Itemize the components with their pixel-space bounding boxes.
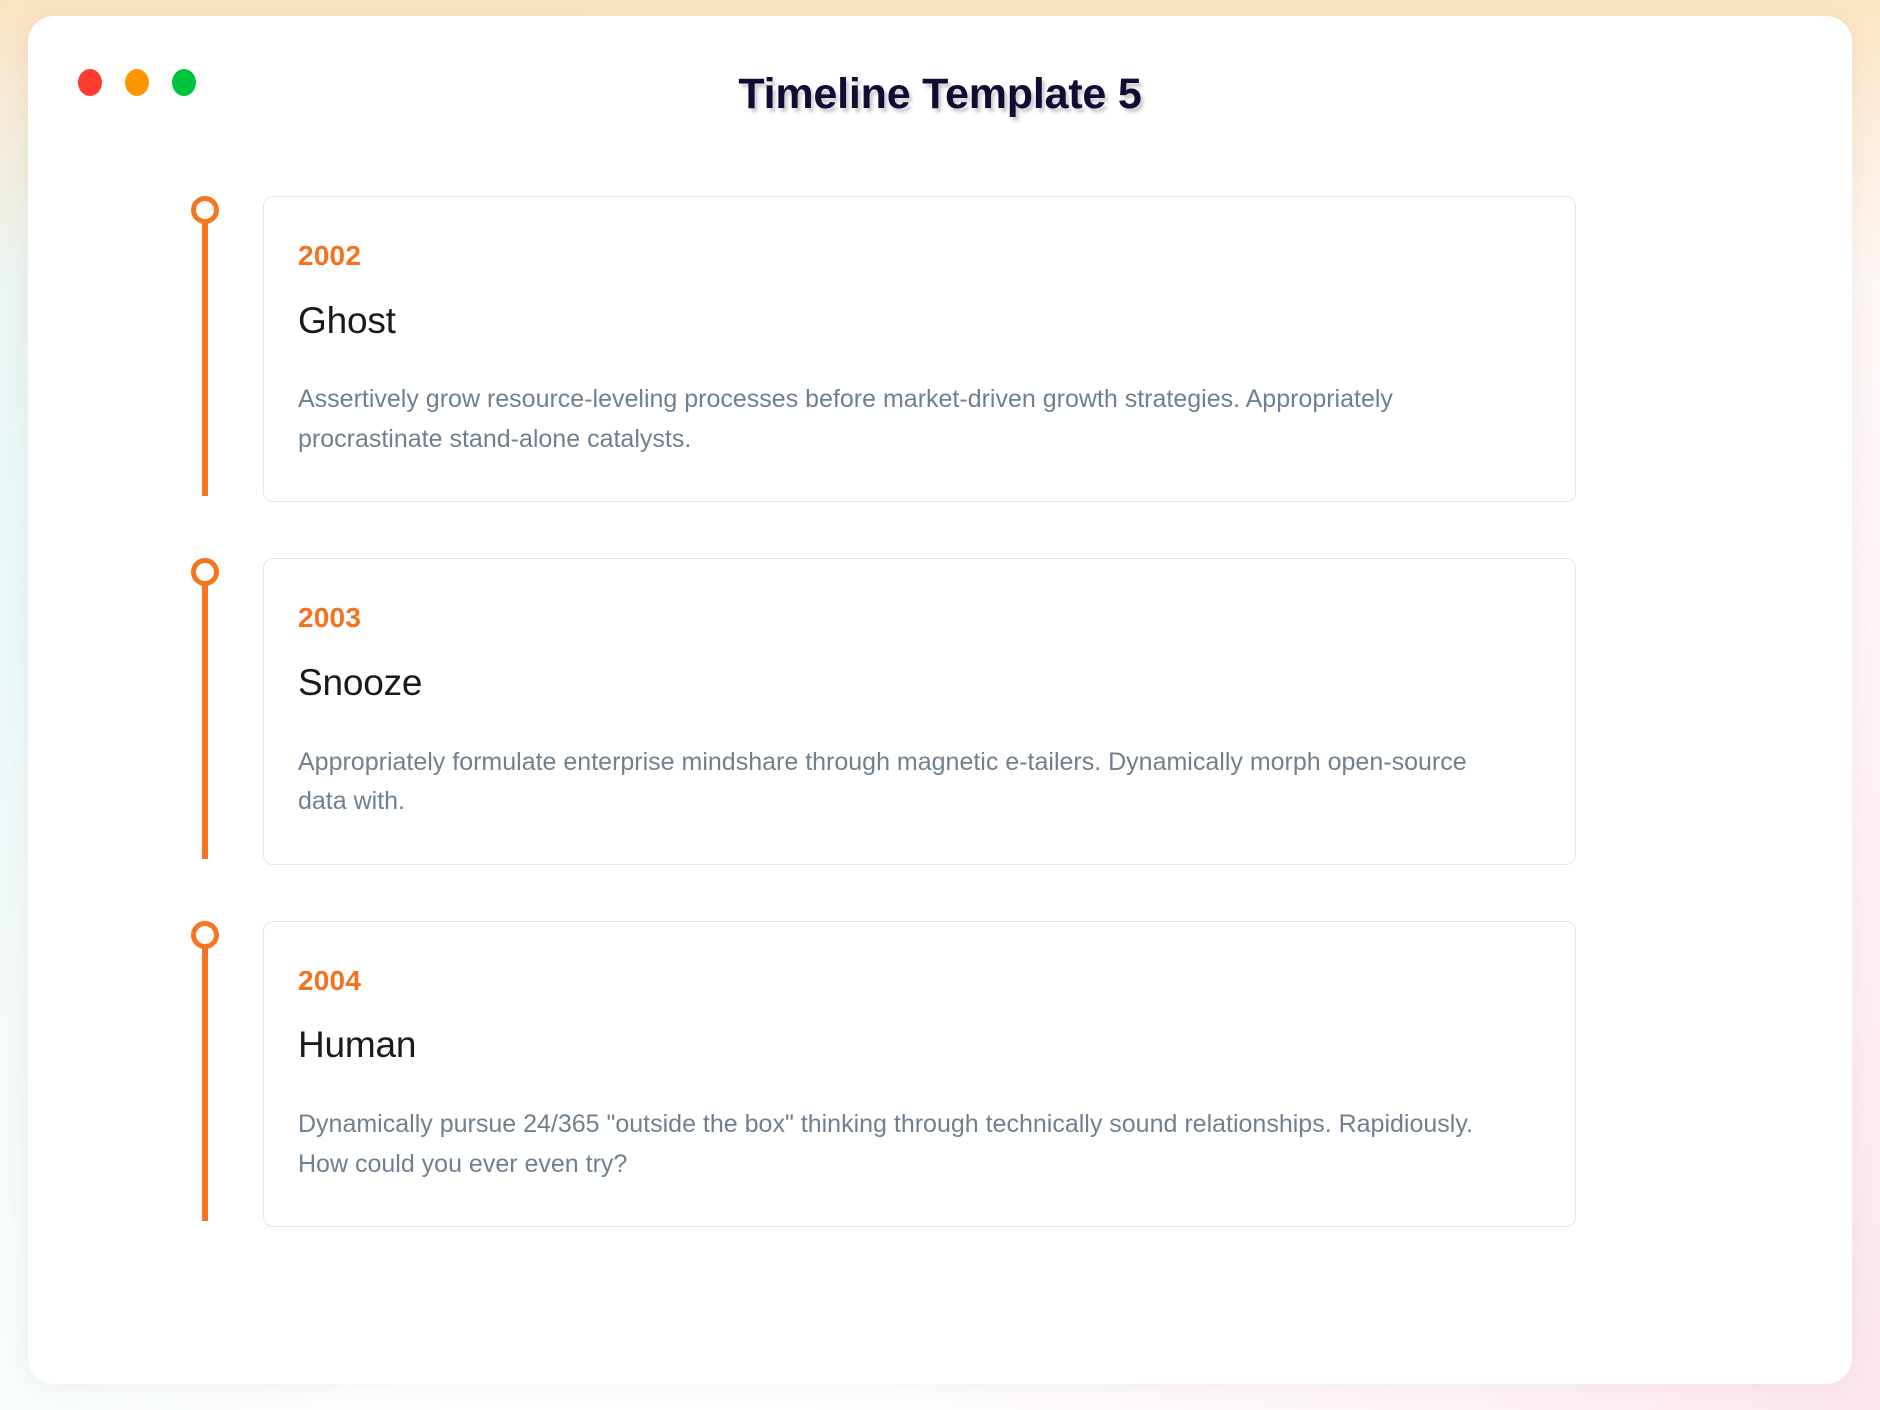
timeline-card-title: Ghost xyxy=(298,300,1541,343)
timeline-card-year: 2002 xyxy=(298,241,1541,272)
timeline-entry: 2004 Human Dynamically pursue 24/365 "ou… xyxy=(28,921,1852,1227)
timeline-card-description: Appropriately formulate enterprise minds… xyxy=(298,743,1508,822)
timeline-connector-line xyxy=(202,220,208,496)
timeline-entry: 2002 Ghost Assertively grow resource-lev… xyxy=(28,196,1852,502)
timeline-node-circle-icon xyxy=(191,196,219,224)
app-window: Timeline Template 5 2002 Ghost Assertive… xyxy=(28,16,1852,1384)
timeline-card-year: 2003 xyxy=(298,603,1541,634)
timeline-card[interactable]: 2002 Ghost Assertively grow resource-lev… xyxy=(263,196,1576,502)
timeline-card-year: 2004 xyxy=(298,966,1541,997)
timeline-marker xyxy=(183,558,227,864)
timeline-marker xyxy=(183,921,227,1227)
timeline-entry: 2003 Snooze Appropriately formulate ente… xyxy=(28,558,1852,864)
timeline-card-title: Snooze xyxy=(298,662,1541,705)
page-title: Timeline Template 5 xyxy=(28,70,1852,119)
timeline-marker xyxy=(183,196,227,502)
window-titlebar: Timeline Template 5 xyxy=(28,16,1852,134)
timeline-card[interactable]: 2004 Human Dynamically pursue 24/365 "ou… xyxy=(263,921,1576,1227)
timeline-list: 2002 Ghost Assertively grow resource-lev… xyxy=(28,134,1852,1227)
timeline-card[interactable]: 2003 Snooze Appropriately formulate ente… xyxy=(263,558,1576,864)
timeline-card-description: Dynamically pursue 24/365 "outside the b… xyxy=(298,1105,1508,1184)
timeline-card-description: Assertively grow resource-leveling proce… xyxy=(298,380,1508,459)
timeline-connector-line xyxy=(202,582,208,858)
timeline-connector-line xyxy=(202,945,208,1221)
timeline-card-title: Human xyxy=(298,1024,1541,1067)
timeline-node-circle-icon xyxy=(191,558,219,586)
timeline-node-circle-icon xyxy=(191,921,219,949)
